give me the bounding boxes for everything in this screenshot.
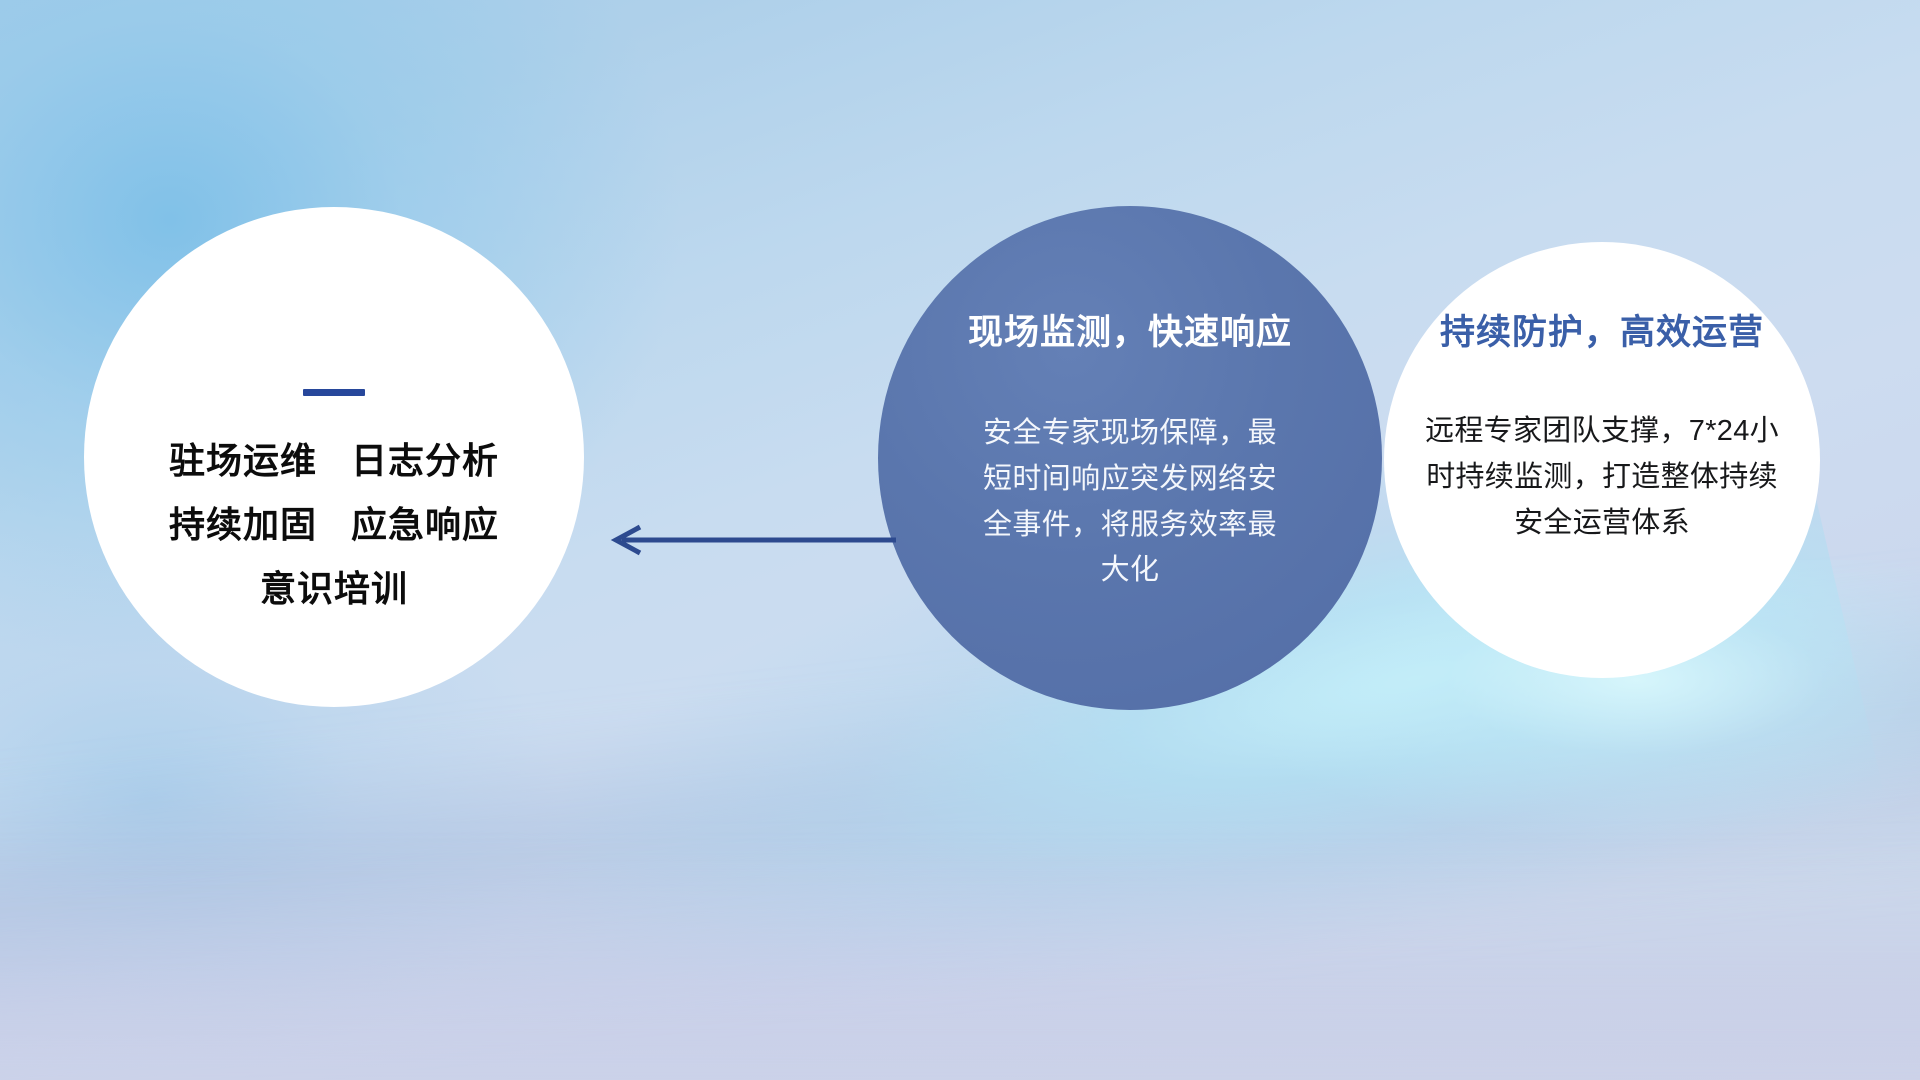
list-item: 意识培训 [260,570,408,608]
horizontal-dash-icon [303,389,365,396]
capability-label: 驻场运维 [169,440,317,481]
onsite-monitoring-title: 现场监测，快速响应 [968,304,1292,355]
continuous-protection-body: 远程专家团队支撑，7*24小时持续监测，打造整体持续安全运营体系 [1416,409,1788,546]
infographic-canvas: 现场监测，快速响应 安全专家现场保障，最短时间响应突发网络安全事件，将服务效率最… [0,0,1920,1080]
capability-label: 日志分析 [351,440,499,481]
continuous-protection-circle[interactable]: 持续防护，高效运营 远程专家团队支撑，7*24小时持续监测，打造整体持续安全运营… [1384,242,1820,678]
onsite-monitoring-body: 安全专家现场保障，最短时间响应突发网络安全事件，将服务效率最大化 [971,411,1289,594]
onsite-monitoring-circle[interactable]: 现场监测，快速响应 安全专家现场保障，最短时间响应突发网络安全事件，将服务效率最… [878,206,1382,710]
background-vignette-bottom [0,960,1920,1080]
capability-label: 意识培训 [260,568,408,609]
arrow-left-icon [600,520,900,560]
continuous-protection-content: 持续防护，高效运营 远程专家团队支撑，7*24小时持续监测，打造整体持续安全运营… [1384,242,1820,678]
connector-arrow [600,520,900,560]
capability-label: 持续加固 [169,504,317,545]
onsite-monitoring-content: 现场监测，快速响应 安全专家现场保障，最短时间响应突发网络安全事件，将服务效率最… [878,206,1382,710]
capabilities-content: 驻场运维日志分析 持续加固应急响应 意识培训 [84,207,584,707]
capabilities-circle[interactable]: 驻场运维日志分析 持续加固应急响应 意识培训 [84,207,584,707]
list-item: 持续加固应急响应 [169,506,499,544]
continuous-protection-title: 持续防护，高效运营 [1440,304,1764,355]
capabilities-list: 驻场运维日志分析 持续加固应急响应 意识培训 [169,442,499,607]
list-item: 驻场运维日志分析 [169,442,499,480]
capability-label: 应急响应 [351,504,499,545]
